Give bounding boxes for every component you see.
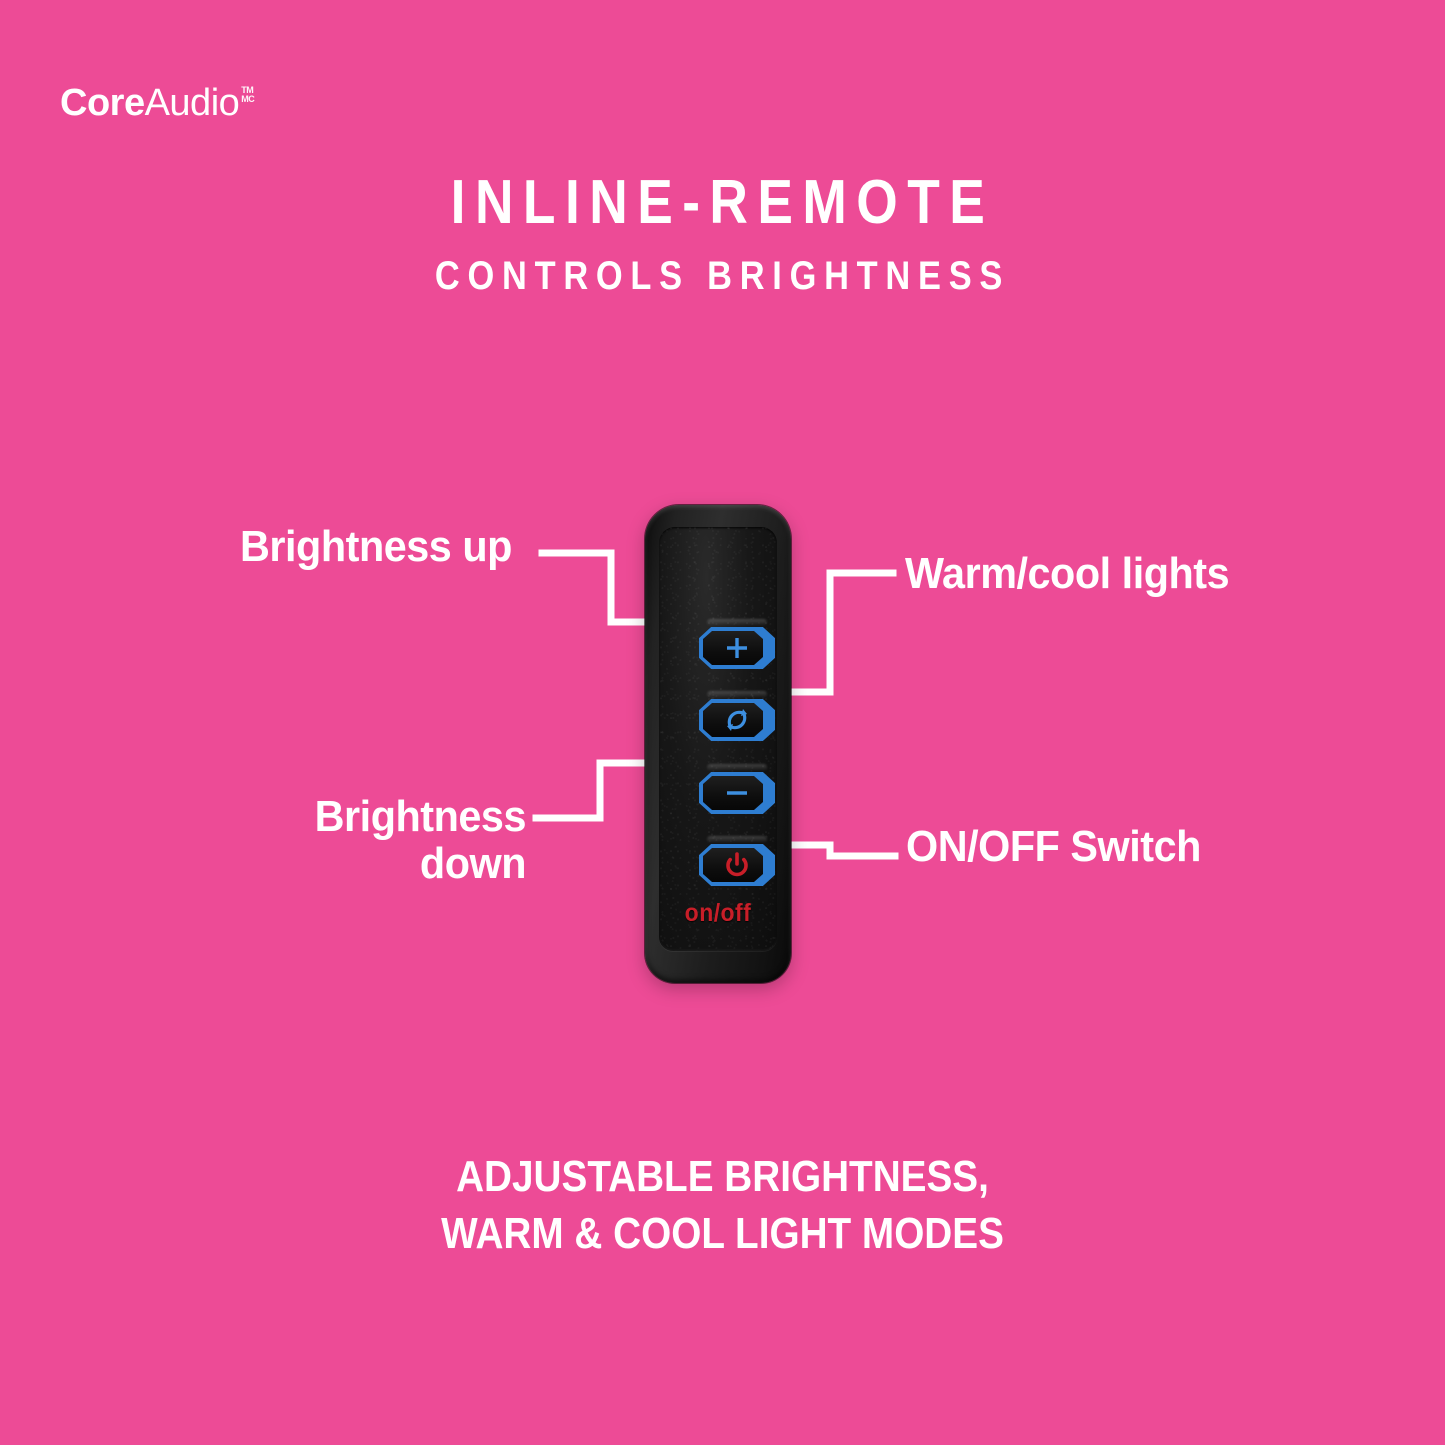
plus-icon — [699, 627, 775, 669]
brand-logo: Core Audio TM MC — [60, 84, 254, 122]
callout-label-brightness-down: Brightness down — [253, 794, 526, 887]
brand-name-light: Audio — [145, 84, 240, 122]
brightness-up-button[interactable] — [699, 627, 775, 669]
infographic-canvas: Core Audio TM MC INLINE-REMOTE CONTROLS … — [0, 0, 1445, 1445]
callout-label-brightness-down-line2: down — [253, 841, 526, 888]
cycle-arrows-icon — [699, 699, 775, 741]
key-highlight-cycle — [707, 691, 767, 698]
page-subtitle: CONTROLS BRIGHTNESS — [101, 256, 1344, 296]
callout-label-brightness-up: Brightness up — [240, 524, 512, 571]
warm-cool-button[interactable] — [699, 699, 775, 741]
remote-faceplate: on/off — [659, 527, 777, 951]
onoff-text-label: on/off — [664, 899, 773, 928]
key-highlight-minus — [707, 764, 767, 771]
footer-tagline-line2: WARM & COOL LIGHT MODES — [87, 1205, 1359, 1262]
trademark-mc: MC — [241, 95, 254, 104]
inline-remote-device: on/off — [645, 505, 791, 983]
trademark-mark: TM MC — [241, 86, 254, 105]
power-button[interactable] — [699, 844, 775, 886]
header-block: INLINE-REMOTE CONTROLS BRIGHTNESS — [0, 172, 1445, 296]
key-highlight-power — [707, 836, 767, 843]
footer-tagline-line1: ADJUSTABLE BRIGHTNESS, — [87, 1148, 1359, 1205]
minus-icon — [699, 772, 775, 814]
page-title: INLINE-REMOTE — [101, 172, 1344, 234]
callout-label-brightness-down-line1: Brightness — [253, 794, 526, 841]
brand-name-bold: Core — [60, 84, 145, 122]
key-highlight-plus — [707, 619, 767, 626]
brightness-down-button[interactable] — [699, 772, 775, 814]
callout-label-onoff-switch: ON/OFF Switch — [906, 824, 1201, 871]
footer-tagline: ADJUSTABLE BRIGHTNESS, WARM & COOL LIGHT… — [87, 1148, 1359, 1262]
power-icon — [699, 844, 775, 886]
callout-label-warm-cool: Warm/cool lights — [905, 551, 1229, 598]
